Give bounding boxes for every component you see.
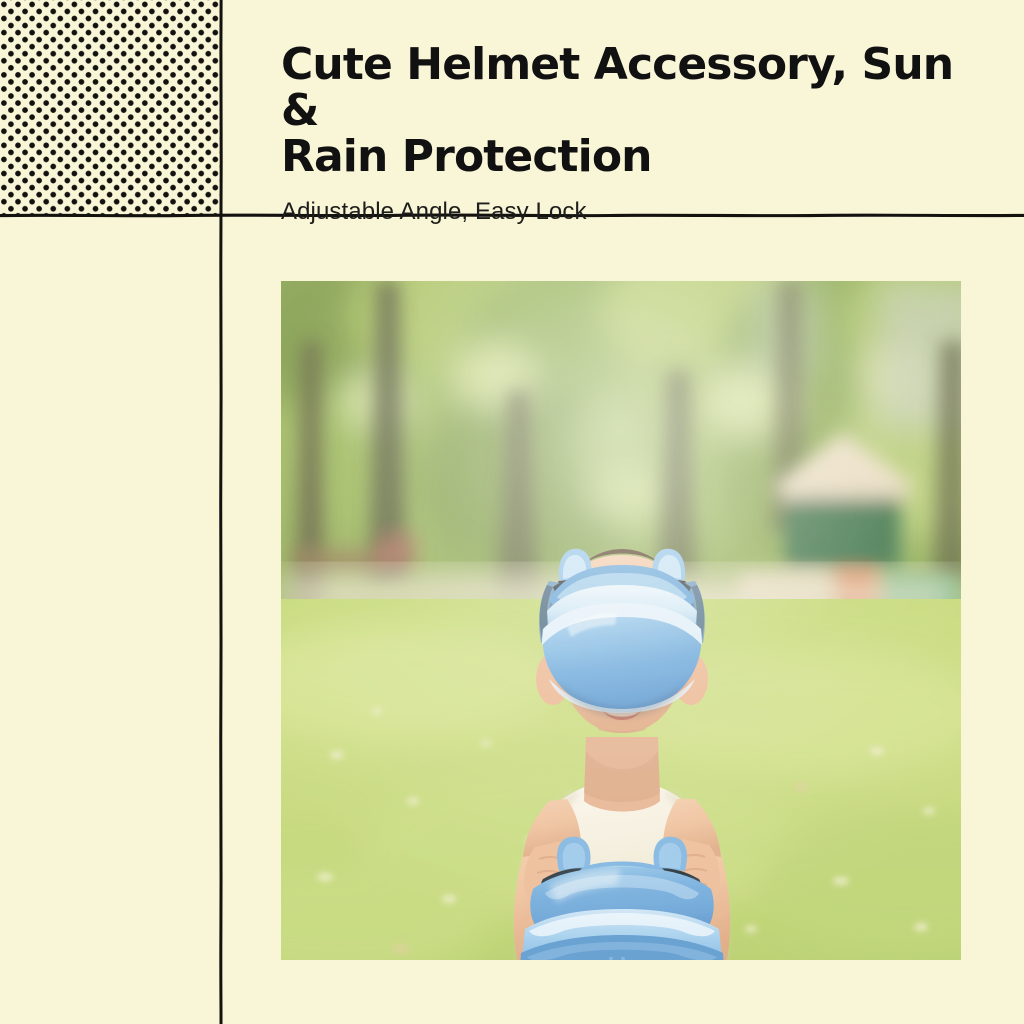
header-text-block: Cute Helmet Accessory, Sun & Rain Protec…: [281, 42, 981, 226]
page-title: Cute Helmet Accessory, Sun & Rain Protec…: [281, 42, 981, 181]
halftone-dot-pattern: [0, 0, 221, 215]
vertical-divider: [218, 0, 224, 1024]
product-photo: [281, 281, 961, 960]
page-subtitle: Adjustable Angle, Easy Lock: [281, 181, 981, 227]
banner-canvas: Cute Helmet Accessory, Sun & Rain Protec…: [0, 0, 1024, 1024]
